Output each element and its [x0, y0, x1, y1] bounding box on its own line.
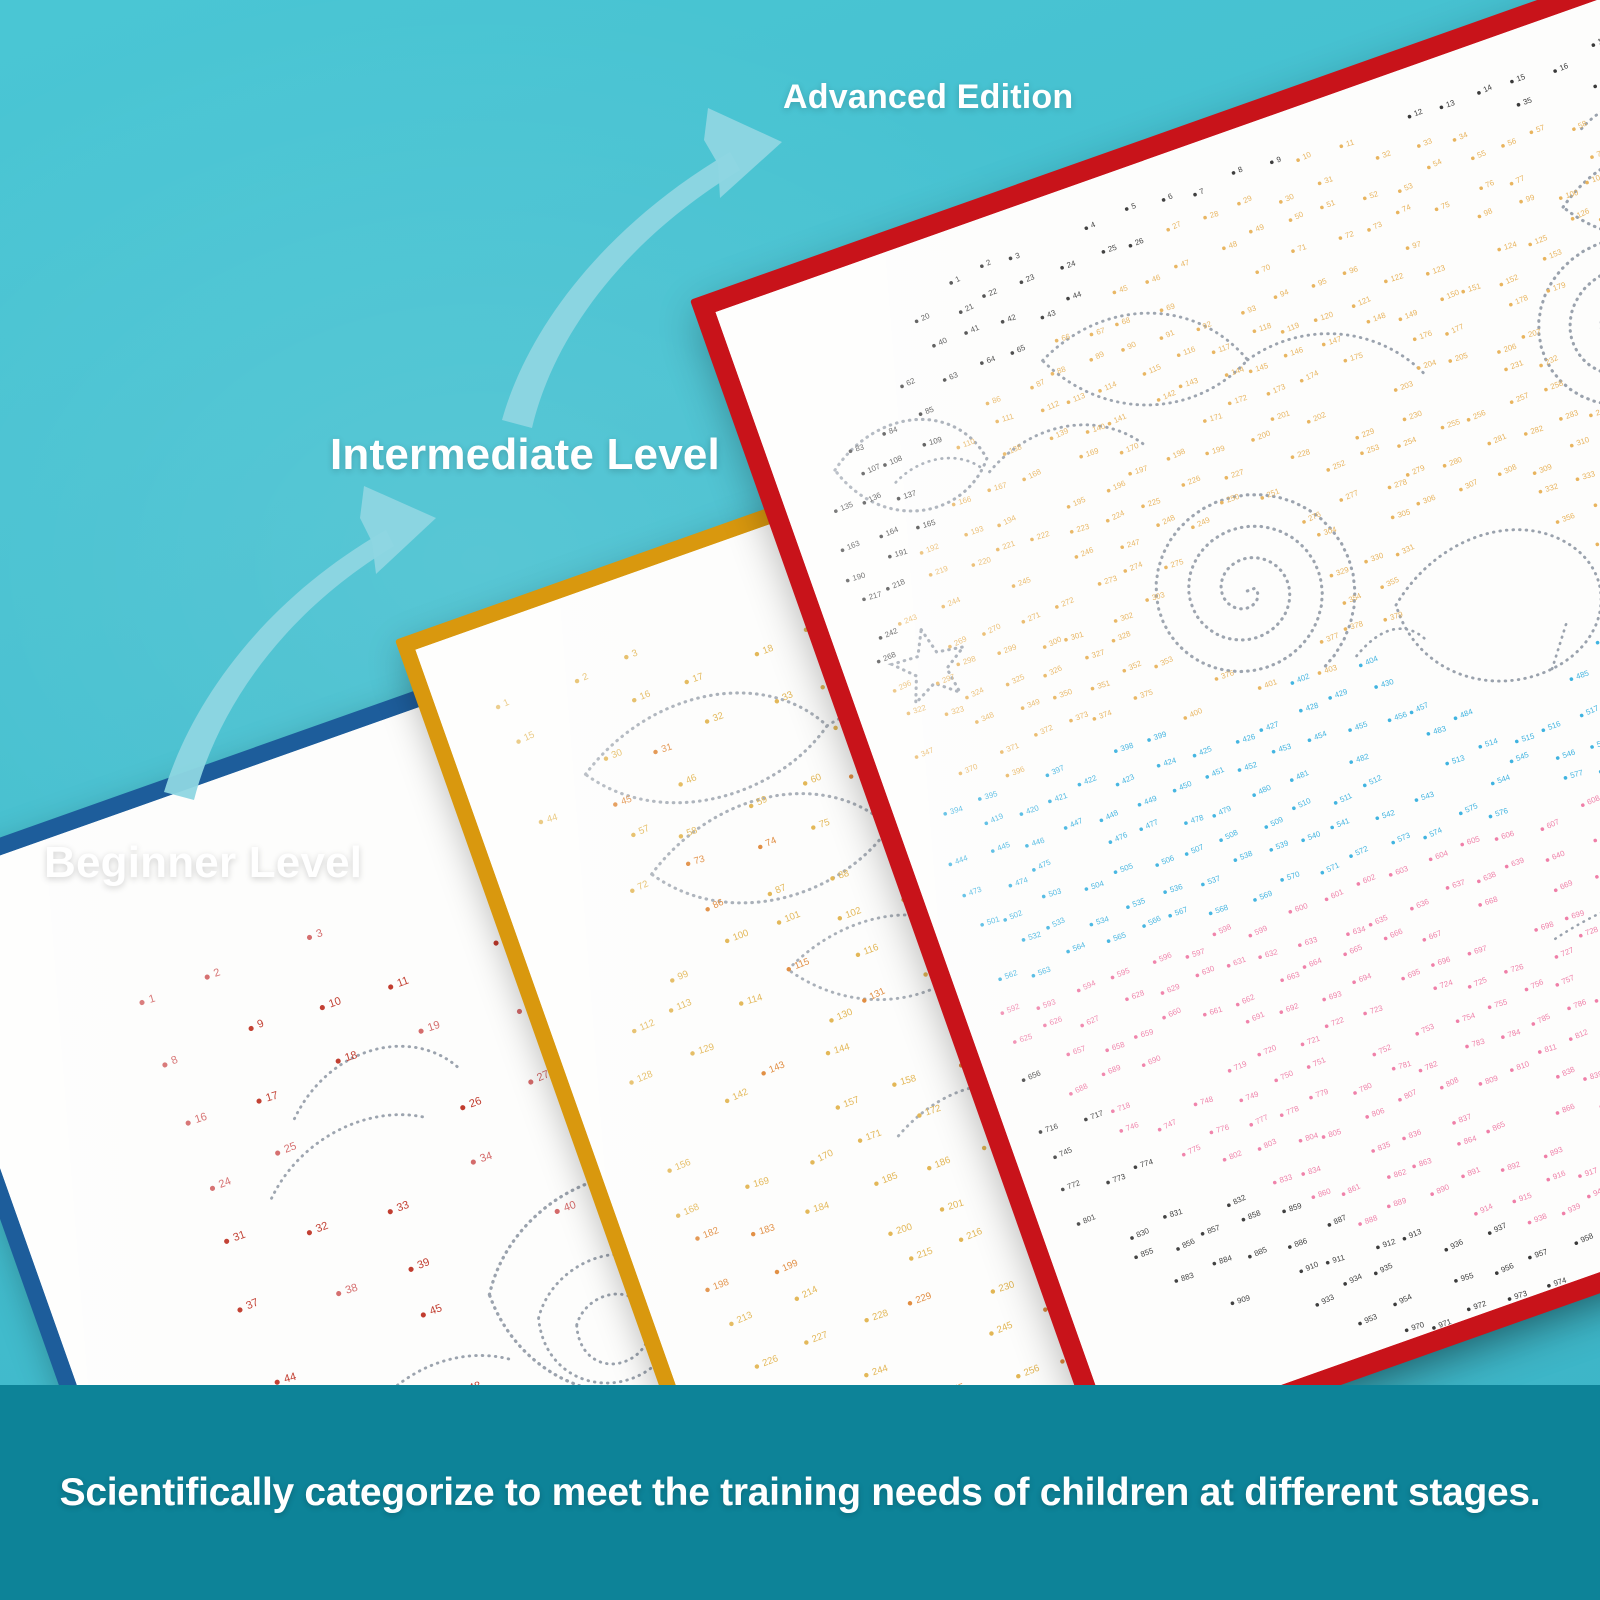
svg-text:40: 40 — [937, 335, 949, 347]
svg-text:230: 230 — [997, 1279, 1016, 1294]
svg-text:63: 63 — [948, 370, 959, 382]
svg-text:146: 146 — [1289, 345, 1304, 358]
svg-text:33: 33 — [781, 689, 795, 703]
svg-text:605: 605 — [1466, 834, 1482, 847]
svg-text:169: 169 — [1085, 446, 1100, 459]
svg-text:936: 936 — [1449, 1237, 1465, 1251]
svg-text:308: 308 — [1503, 462, 1519, 475]
svg-text:198: 198 — [712, 1277, 731, 1293]
svg-text:535: 535 — [1131, 896, 1147, 909]
svg-text:541: 541 — [1335, 816, 1350, 829]
svg-text:632: 632 — [1264, 947, 1279, 959]
svg-text:115: 115 — [1147, 362, 1163, 375]
svg-text:9: 9 — [1275, 155, 1282, 165]
svg-text:46: 46 — [1151, 273, 1162, 284]
svg-text:477: 477 — [1144, 817, 1160, 830]
svg-text:775: 775 — [1187, 1142, 1203, 1156]
svg-text:21: 21 — [963, 302, 975, 314]
svg-text:113: 113 — [675, 997, 693, 1013]
svg-text:861: 861 — [1346, 1182, 1362, 1196]
svg-text:663: 663 — [1286, 970, 1301, 983]
svg-text:513: 513 — [1451, 753, 1466, 765]
svg-text:608: 608 — [1586, 793, 1600, 806]
svg-text:504: 504 — [1090, 879, 1106, 892]
svg-text:117: 117 — [1217, 342, 1232, 355]
banner-tagline: Scientifically categorize to meet the tr… — [60, 1471, 1541, 1515]
svg-text:116: 116 — [862, 942, 880, 958]
svg-text:137: 137 — [902, 488, 917, 500]
svg-text:506: 506 — [1160, 853, 1175, 866]
svg-text:50: 50 — [1293, 209, 1305, 221]
svg-text:165: 165 — [922, 518, 938, 530]
svg-text:118: 118 — [1258, 321, 1273, 333]
svg-text:607: 607 — [1545, 817, 1561, 831]
svg-text:71: 71 — [1297, 242, 1308, 253]
svg-text:449: 449 — [1143, 794, 1158, 807]
svg-text:917: 917 — [1583, 1166, 1598, 1179]
svg-text:78: 78 — [1595, 148, 1600, 159]
svg-text:66: 66 — [1060, 332, 1071, 343]
label-beginner-level: Beginner Level — [44, 838, 362, 888]
svg-text:422: 422 — [1083, 773, 1098, 786]
svg-text:42: 42 — [1006, 312, 1017, 323]
svg-text:692: 692 — [1285, 1001, 1300, 1014]
svg-text:970: 970 — [1410, 1320, 1426, 1333]
svg-text:570: 570 — [1286, 869, 1302, 882]
svg-text:402: 402 — [1295, 671, 1310, 684]
svg-text:838: 838 — [1561, 1065, 1577, 1078]
svg-text:142: 142 — [1161, 388, 1177, 401]
svg-text:101: 101 — [783, 909, 802, 925]
svg-text:147: 147 — [1327, 334, 1342, 346]
svg-text:954: 954 — [1398, 1292, 1414, 1306]
svg-text:77: 77 — [1514, 173, 1526, 185]
svg-text:428: 428 — [1304, 701, 1319, 713]
svg-text:806: 806 — [1370, 1106, 1385, 1119]
svg-text:123: 123 — [1431, 263, 1446, 276]
svg-text:168: 168 — [682, 1202, 701, 1218]
svg-text:47: 47 — [1180, 258, 1191, 269]
svg-text:971: 971 — [1437, 1317, 1452, 1330]
svg-text:626: 626 — [1048, 1014, 1063, 1027]
svg-text:75: 75 — [818, 817, 832, 831]
svg-text:777: 777 — [1254, 1113, 1270, 1127]
svg-text:911: 911 — [1331, 1253, 1345, 1265]
svg-text:12: 12 — [1413, 107, 1424, 119]
svg-text:17: 17 — [264, 1089, 279, 1104]
svg-text:244: 244 — [946, 595, 962, 608]
svg-text:444: 444 — [954, 853, 970, 866]
svg-text:301: 301 — [1070, 630, 1085, 642]
svg-text:373: 373 — [1074, 709, 1089, 722]
svg-text:88: 88 — [837, 868, 850, 882]
svg-text:910: 910 — [1304, 1259, 1320, 1272]
svg-text:268: 268 — [882, 650, 897, 663]
svg-text:280: 280 — [1448, 455, 1464, 468]
svg-text:476: 476 — [1113, 830, 1129, 843]
svg-text:45: 45 — [1118, 283, 1130, 294]
svg-text:575: 575 — [1464, 801, 1480, 815]
svg-text:533: 533 — [1051, 915, 1067, 929]
svg-text:938: 938 — [1533, 1211, 1548, 1224]
svg-text:258: 258 — [1549, 378, 1564, 391]
svg-text:399: 399 — [1152, 729, 1167, 742]
svg-text:52: 52 — [1368, 189, 1379, 200]
svg-text:564: 564 — [1071, 940, 1087, 953]
svg-text:44: 44 — [546, 812, 560, 826]
svg-text:890: 890 — [1435, 1182, 1451, 1196]
svg-text:7: 7 — [1198, 186, 1205, 196]
svg-text:150: 150 — [1445, 287, 1461, 301]
svg-text:227: 227 — [810, 1329, 829, 1345]
svg-text:721: 721 — [1306, 1034, 1321, 1047]
svg-text:400: 400 — [1188, 706, 1204, 720]
svg-text:600: 600 — [1294, 901, 1310, 914]
svg-text:206: 206 — [1503, 342, 1518, 354]
svg-text:940: 940 — [1592, 1184, 1600, 1198]
svg-text:547: 547 — [1596, 737, 1600, 749]
svg-text:184: 184 — [812, 1200, 831, 1215]
svg-text:55: 55 — [1476, 148, 1488, 160]
svg-text:453: 453 — [1277, 742, 1292, 754]
svg-text:96: 96 — [1348, 264, 1359, 275]
svg-text:173: 173 — [1271, 382, 1286, 395]
svg-text:482: 482 — [1355, 752, 1370, 764]
svg-text:17: 17 — [1596, 35, 1600, 47]
svg-text:562: 562 — [1003, 968, 1018, 981]
svg-text:31: 31 — [660, 742, 673, 756]
svg-text:718: 718 — [1116, 1101, 1131, 1114]
svg-text:120: 120 — [1319, 310, 1335, 323]
svg-text:888: 888 — [1363, 1213, 1378, 1226]
svg-text:839: 839 — [1589, 1069, 1600, 1081]
svg-text:305: 305 — [1396, 507, 1412, 520]
svg-text:20: 20 — [919, 311, 931, 323]
svg-text:217: 217 — [868, 589, 883, 601]
svg-text:755: 755 — [1493, 997, 1509, 1009]
svg-text:325: 325 — [1010, 672, 1026, 686]
svg-text:885: 885 — [1253, 1245, 1269, 1259]
svg-text:218: 218 — [891, 577, 906, 590]
svg-text:51: 51 — [1325, 198, 1336, 209]
svg-text:157: 157 — [842, 1094, 861, 1110]
svg-text:631: 631 — [1232, 955, 1247, 968]
svg-text:785: 785 — [1536, 1011, 1552, 1025]
svg-text:30: 30 — [1284, 192, 1296, 204]
svg-text:514: 514 — [1484, 736, 1500, 749]
svg-text:447: 447 — [1068, 816, 1084, 829]
svg-text:16: 16 — [638, 688, 652, 702]
svg-text:32: 32 — [1381, 149, 1392, 160]
svg-text:1: 1 — [147, 993, 156, 1006]
svg-text:450: 450 — [1178, 779, 1194, 793]
svg-text:148: 148 — [1372, 311, 1387, 324]
svg-text:698: 698 — [1540, 919, 1555, 932]
svg-text:37: 37 — [244, 1296, 260, 1312]
svg-text:667: 667 — [1427, 928, 1442, 941]
svg-text:538: 538 — [1238, 849, 1253, 862]
svg-text:807: 807 — [1403, 1087, 1419, 1101]
svg-text:10: 10 — [1301, 150, 1313, 162]
svg-text:446: 446 — [1031, 836, 1046, 848]
svg-text:716: 716 — [1044, 1122, 1059, 1134]
svg-text:832: 832 — [1232, 1193, 1248, 1207]
svg-text:509: 509 — [1269, 815, 1285, 829]
svg-text:689: 689 — [1107, 1063, 1122, 1076]
svg-text:625: 625 — [1018, 1032, 1034, 1045]
svg-text:974: 974 — [1552, 1275, 1568, 1288]
svg-text:424: 424 — [1162, 756, 1178, 768]
svg-text:15: 15 — [522, 729, 536, 743]
svg-text:356: 356 — [1561, 511, 1576, 524]
svg-text:507: 507 — [1190, 842, 1205, 855]
svg-text:13: 13 — [1445, 98, 1456, 109]
svg-text:275: 275 — [1169, 557, 1185, 570]
svg-text:56: 56 — [1506, 136, 1517, 147]
svg-text:111: 111 — [1001, 412, 1015, 424]
svg-text:244: 244 — [871, 1363, 890, 1379]
svg-text:563: 563 — [1037, 965, 1052, 978]
svg-text:659: 659 — [1140, 1027, 1155, 1039]
svg-text:253: 253 — [1365, 442, 1380, 455]
svg-text:332: 332 — [1544, 481, 1559, 493]
svg-text:371: 371 — [1005, 741, 1020, 754]
svg-text:86: 86 — [991, 394, 1002, 405]
svg-text:666: 666 — [1389, 927, 1404, 940]
svg-text:808: 808 — [1444, 1075, 1460, 1089]
svg-text:326: 326 — [1048, 663, 1064, 677]
svg-text:727: 727 — [1559, 945, 1574, 958]
svg-text:634: 634 — [1352, 924, 1368, 936]
svg-text:115: 115 — [793, 956, 811, 972]
svg-text:247: 247 — [1126, 537, 1141, 549]
svg-text:167: 167 — [993, 480, 1008, 492]
svg-text:222: 222 — [1035, 529, 1050, 542]
svg-text:455: 455 — [1353, 719, 1369, 732]
svg-text:323: 323 — [950, 704, 965, 716]
svg-text:158: 158 — [899, 1073, 917, 1088]
svg-text:270: 270 — [987, 621, 1003, 635]
svg-text:307: 307 — [1464, 477, 1480, 491]
svg-text:221: 221 — [1001, 539, 1016, 552]
svg-text:501: 501 — [986, 914, 1001, 926]
svg-text:67: 67 — [1095, 326, 1106, 337]
svg-text:185: 185 — [880, 1170, 899, 1186]
svg-text:420: 420 — [1025, 803, 1041, 816]
svg-text:892: 892 — [1506, 1160, 1521, 1172]
svg-text:243: 243 — [903, 612, 918, 625]
svg-text:512: 512 — [1367, 773, 1383, 787]
svg-text:478: 478 — [1190, 813, 1205, 825]
svg-text:48: 48 — [1227, 239, 1238, 250]
svg-text:348: 348 — [980, 710, 995, 723]
svg-text:571: 571 — [1325, 861, 1341, 875]
svg-text:511: 511 — [1338, 791, 1353, 804]
svg-text:505: 505 — [1119, 861, 1135, 874]
svg-text:3: 3 — [630, 648, 639, 660]
svg-text:973: 973 — [1513, 1289, 1528, 1301]
svg-text:567: 567 — [1173, 905, 1188, 918]
svg-text:786: 786 — [1572, 997, 1587, 1010]
svg-text:24: 24 — [217, 1175, 233, 1191]
svg-text:179: 179 — [1552, 280, 1567, 293]
svg-text:696: 696 — [1436, 955, 1451, 967]
svg-text:958: 958 — [1579, 1231, 1595, 1244]
svg-text:114: 114 — [746, 992, 764, 1007]
svg-text:329: 329 — [1335, 565, 1350, 578]
svg-text:834: 834 — [1307, 1164, 1323, 1176]
svg-text:810: 810 — [1515, 1059, 1531, 1072]
svg-text:213: 213 — [735, 1310, 754, 1327]
svg-text:194: 194 — [1002, 513, 1018, 527]
svg-text:299: 299 — [1002, 642, 1017, 655]
svg-text:661: 661 — [1208, 1005, 1223, 1017]
svg-text:33: 33 — [395, 1199, 411, 1214]
svg-text:44: 44 — [283, 1371, 298, 1386]
svg-text:693: 693 — [1328, 989, 1343, 1002]
svg-text:639: 639 — [1510, 856, 1525, 869]
svg-text:425: 425 — [1198, 744, 1214, 757]
svg-text:100: 100 — [731, 928, 750, 944]
svg-text:909: 909 — [1236, 1293, 1251, 1305]
svg-text:90: 90 — [1126, 339, 1138, 351]
svg-text:479: 479 — [1217, 804, 1233, 818]
svg-text:516: 516 — [1547, 719, 1562, 732]
svg-text:594: 594 — [1081, 978, 1097, 992]
svg-text:423: 423 — [1120, 772, 1136, 786]
svg-text:725: 725 — [1473, 975, 1489, 988]
svg-text:812: 812 — [1574, 1027, 1589, 1040]
svg-text:43: 43 — [1046, 308, 1057, 319]
svg-text:746: 746 — [1125, 1120, 1140, 1133]
svg-text:628: 628 — [1130, 988, 1145, 1001]
svg-text:28: 28 — [1209, 209, 1220, 220]
svg-text:228: 228 — [1296, 447, 1311, 459]
svg-text:719: 719 — [1233, 1059, 1248, 1072]
svg-text:300: 300 — [1047, 634, 1063, 648]
svg-text:18: 18 — [761, 643, 775, 657]
svg-text:87: 87 — [774, 882, 788, 896]
svg-text:957: 957 — [1533, 1247, 1548, 1260]
svg-text:142: 142 — [731, 1087, 750, 1104]
svg-text:143: 143 — [767, 1059, 786, 1075]
svg-text:664: 664 — [1308, 956, 1324, 969]
svg-text:205: 205 — [1454, 351, 1470, 364]
svg-text:776: 776 — [1215, 1123, 1230, 1135]
svg-text:427: 427 — [1265, 719, 1280, 732]
svg-text:284: 284 — [1595, 405, 1600, 417]
svg-text:539: 539 — [1274, 838, 1289, 851]
svg-text:593: 593 — [1042, 997, 1057, 1010]
svg-text:144: 144 — [1230, 364, 1246, 377]
svg-text:58: 58 — [685, 825, 699, 839]
svg-text:59: 59 — [755, 794, 769, 808]
svg-text:454: 454 — [1313, 729, 1329, 742]
svg-text:220: 220 — [977, 555, 993, 567]
svg-text:2: 2 — [581, 671, 590, 683]
svg-text:298: 298 — [962, 654, 977, 666]
svg-text:99: 99 — [676, 969, 690, 983]
svg-text:34: 34 — [478, 1150, 493, 1165]
svg-text:121: 121 — [1357, 294, 1372, 307]
svg-text:72: 72 — [1344, 229, 1355, 240]
svg-text:656: 656 — [1027, 1069, 1042, 1082]
svg-text:636: 636 — [1415, 897, 1430, 910]
svg-text:45: 45 — [620, 794, 634, 808]
svg-text:780: 780 — [1358, 1080, 1374, 1094]
svg-text:566: 566 — [1147, 914, 1163, 928]
svg-text:119: 119 — [1286, 321, 1301, 334]
svg-text:837: 837 — [1457, 1112, 1472, 1125]
svg-text:97: 97 — [1411, 239, 1422, 250]
svg-text:753: 753 — [1420, 1022, 1436, 1035]
svg-text:199: 199 — [1211, 444, 1226, 456]
svg-text:168: 168 — [1027, 467, 1043, 481]
svg-text:757: 757 — [1560, 973, 1575, 986]
svg-text:269: 269 — [953, 634, 969, 648]
svg-text:858: 858 — [1247, 1208, 1262, 1221]
svg-text:257: 257 — [1515, 391, 1530, 404]
svg-text:699: 699 — [1570, 908, 1585, 920]
svg-text:58: 58 — [1577, 119, 1589, 131]
svg-text:145: 145 — [1254, 361, 1270, 374]
svg-text:397: 397 — [1050, 763, 1066, 777]
svg-text:724: 724 — [1439, 978, 1455, 991]
svg-text:540: 540 — [1306, 829, 1322, 842]
svg-text:271: 271 — [1026, 610, 1041, 623]
svg-text:207: 207 — [1527, 327, 1542, 339]
svg-text:303: 303 — [1151, 590, 1166, 602]
svg-text:135: 135 — [839, 500, 855, 513]
svg-text:751: 751 — [1312, 1055, 1327, 1068]
svg-text:627: 627 — [1085, 1014, 1101, 1027]
svg-text:171: 171 — [864, 1128, 883, 1144]
svg-text:773: 773 — [1111, 1172, 1126, 1185]
svg-text:933: 933 — [1320, 1292, 1336, 1306]
svg-text:72: 72 — [636, 879, 650, 893]
svg-text:38: 38 — [344, 1282, 359, 1297]
svg-text:31: 31 — [1323, 174, 1334, 185]
svg-text:250: 250 — [1225, 492, 1241, 505]
svg-text:273: 273 — [1103, 574, 1118, 586]
label-advanced-edition: Advanced Edition — [783, 78, 1073, 117]
svg-text:16: 16 — [1558, 61, 1569, 73]
svg-text:862: 862 — [1393, 1167, 1408, 1179]
svg-text:452: 452 — [1243, 760, 1258, 772]
svg-text:125: 125 — [1533, 233, 1549, 246]
svg-text:53: 53 — [1403, 181, 1415, 193]
svg-text:176: 176 — [1418, 328, 1433, 341]
svg-text:29: 29 — [1242, 193, 1254, 205]
svg-text:10: 10 — [327, 995, 343, 1010]
svg-text:22: 22 — [987, 286, 998, 297]
svg-text:95: 95 — [1317, 276, 1329, 288]
svg-text:227: 227 — [1230, 467, 1245, 480]
svg-text:98: 98 — [1482, 206, 1494, 218]
svg-text:34: 34 — [1458, 130, 1470, 142]
svg-text:835: 835 — [1376, 1139, 1392, 1152]
svg-text:728: 728 — [1584, 925, 1599, 938]
svg-text:912: 912 — [1381, 1237, 1396, 1250]
svg-text:833: 833 — [1278, 1172, 1293, 1184]
svg-text:939: 939 — [1566, 1201, 1582, 1215]
svg-text:637: 637 — [1451, 878, 1466, 891]
svg-text:164: 164 — [884, 525, 900, 539]
svg-text:228: 228 — [871, 1308, 890, 1323]
svg-text:85: 85 — [924, 404, 936, 416]
svg-text:54: 54 — [1431, 157, 1443, 169]
svg-text:956: 956 — [1500, 1261, 1516, 1275]
